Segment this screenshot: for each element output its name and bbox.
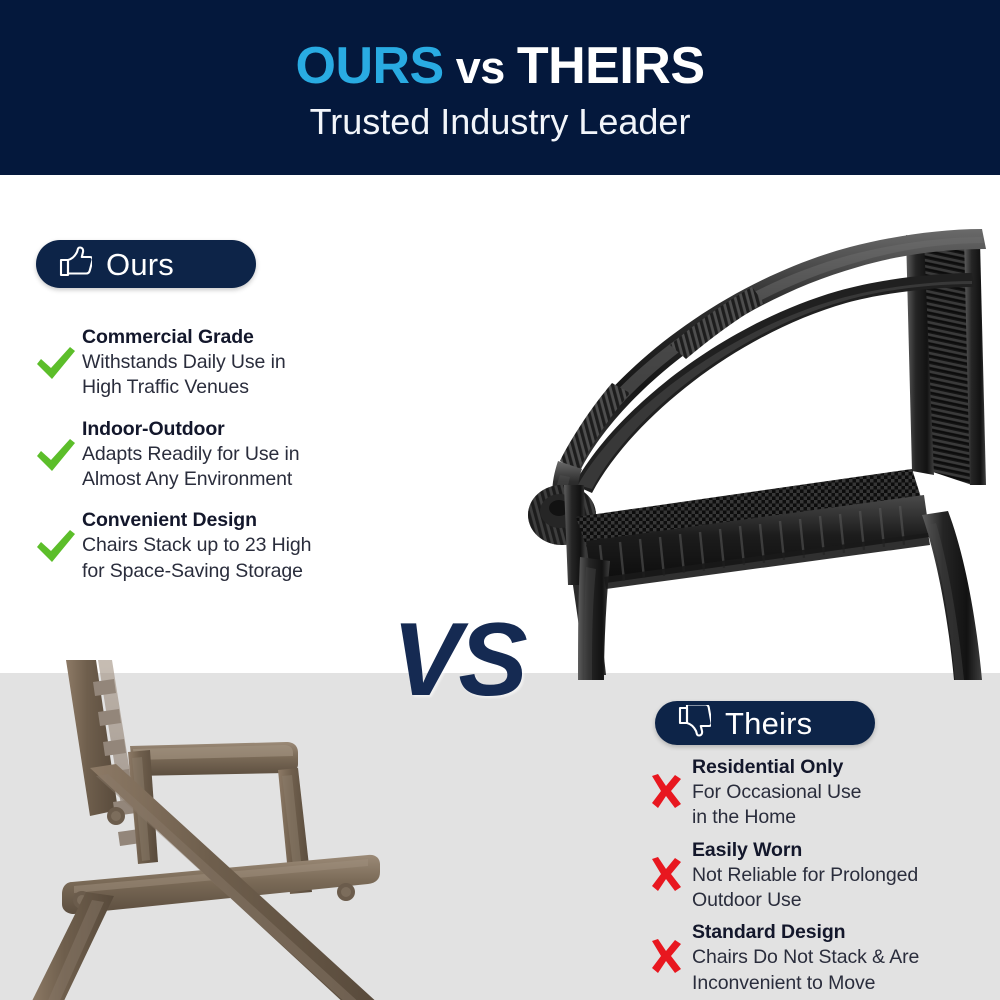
ours-badge[interactable]: Ours <box>36 240 256 288</box>
feature-title: Residential Only <box>692 755 995 780</box>
ours-product-photo <box>520 185 1000 680</box>
comparison-infographic: OURS vs THEIRS Trusted Industry Leader O… <box>0 0 1000 1000</box>
list-item: Residential Only For Occasional Use in t… <box>640 755 995 831</box>
feature-title: Standard Design <box>692 920 995 945</box>
feature-desc: Chairs Do Not Stack & Are Inconvenient t… <box>692 945 995 996</box>
thumbs-down-icon <box>677 705 711 742</box>
feature-title: Easily Worn <box>692 838 995 863</box>
theirs-badge-label: Theirs <box>725 708 812 739</box>
feature-desc: Withstands Daily Use in High Traffic Ven… <box>82 350 410 401</box>
theirs-product-photo <box>0 660 420 1000</box>
green-check-icon <box>30 508 82 566</box>
title-theirs: THEIRS <box>517 37 705 95</box>
feature-desc: Chairs Stack up to 23 High for Space-Sav… <box>82 533 410 584</box>
list-item: Easily Worn Not Reliable for Prolonged O… <box>640 838 995 914</box>
red-x-icon <box>640 755 692 811</box>
ours-feature-list: Commercial Grade Withstands Daily Use in… <box>30 325 410 600</box>
header-banner: OURS vs THEIRS Trusted Industry Leader <box>0 0 1000 175</box>
green-check-icon <box>30 417 82 475</box>
red-x-icon <box>640 838 692 894</box>
list-item: Convenient Design Chairs Stack up to 23 … <box>30 508 410 584</box>
list-item: Indoor-Outdoor Adapts Readily for Use in… <box>30 417 410 493</box>
theirs-badge[interactable]: Theirs <box>655 701 875 745</box>
ours-badge-label: Ours <box>106 249 174 280</box>
vs-divider-label: VS <box>392 608 525 712</box>
title-vs: vs <box>444 42 517 93</box>
feature-desc: Adapts Readily for Use in Almost Any Env… <box>82 442 410 493</box>
list-item: Commercial Grade Withstands Daily Use in… <box>30 325 410 401</box>
title-ours: OURS <box>296 37 444 95</box>
feature-title: Commercial Grade <box>82 325 410 350</box>
feature-desc: Not Reliable for Prolonged Outdoor Use <box>692 863 995 914</box>
red-x-icon <box>640 920 692 976</box>
feature-title: Indoor-Outdoor <box>82 417 410 442</box>
theirs-feature-list: Residential Only For Occasional Use in t… <box>640 755 995 1000</box>
green-check-icon <box>30 325 82 383</box>
feature-title: Convenient Design <box>82 508 410 533</box>
feature-desc: For Occasional Use in the Home <box>692 780 995 831</box>
list-item: Standard Design Chairs Do Not Stack & Ar… <box>640 920 995 996</box>
page-subtitle: Trusted Industry Leader <box>310 104 691 140</box>
page-title: OURS vs THEIRS <box>296 40 705 92</box>
thumbs-up-icon <box>58 246 92 283</box>
